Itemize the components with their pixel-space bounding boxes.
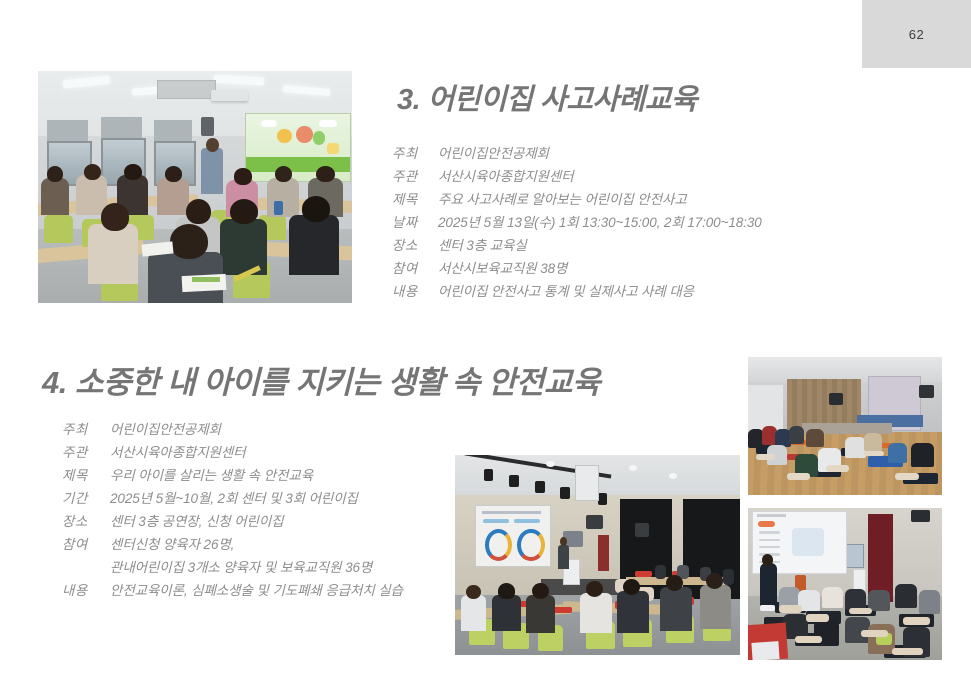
detail-value: 서산시육아종합지원센터 (430, 165, 574, 188)
detail-row: 제목 주요 사고사례로 알아보는 어린이집 안전사고 (392, 188, 762, 211)
detail-row: 내용 안전교육이론, 심폐소생술 및 기도폐쇄 응급처치 실습 (62, 579, 403, 602)
detail-value: 우리 아이를 살리는 생활 속 안전교육 (102, 464, 313, 487)
detail-value: 센터 3층 교육실 (430, 234, 527, 257)
photo-classroom-lecture (38, 71, 352, 303)
detail-value: 안전교육이론, 심폐소생술 및 기도폐쇄 응급처치 실습 (102, 579, 403, 602)
detail-value: 주요 사고사례로 알아보는 어린이집 안전사고 (430, 188, 687, 211)
photo-cpr-practice-hall (748, 508, 942, 660)
detail-label: 장소 (392, 234, 430, 257)
detail-row: 주최 어린이집안전공제회 (62, 418, 403, 441)
detail-row: 기간 2025년 5월~10월, 2회 센터 및 3회 어린이집 (62, 487, 403, 510)
detail-row-continuation: 관내어린이집 3개소 양육자 및 보육교직원 36명 (62, 556, 403, 579)
photo-cpr-practice-wood-floor (748, 357, 942, 495)
detail-row: 주관 서산시육아종합지원센터 (392, 165, 762, 188)
section-4-heading: 4. 소중한 내 아이를 지키는 생활 속 안전교육 (42, 357, 600, 402)
detail-row: 날짜 2025년 5월 13일(수) 1회 13:30~15:00, 2회 17… (392, 211, 762, 234)
detail-label: 주최 (62, 418, 102, 441)
detail-label: 주관 (392, 165, 430, 188)
photo-auditorium-cpr-lecture (455, 455, 740, 655)
section-4-details: 주최 어린이집안전공제회 주관 서산시육아종합지원센터 제목 우리 아이를 살리… (62, 418, 403, 602)
detail-value: 서산시보육교직원 38명 (430, 257, 567, 280)
section-3-heading: 3. 어린이집 사고사례교육 (397, 76, 697, 118)
detail-value: 어린이집 안전사고 통계 및 실제사고 사례 대응 (430, 280, 694, 303)
detail-label: 참여 (62, 533, 102, 556)
detail-label: 제목 (392, 188, 430, 211)
detail-value: 센터신청 양육자 26명, (102, 533, 234, 556)
page-number-badge: 62 (862, 0, 971, 68)
detail-value: 관내어린이집 3개소 양육자 및 보육교직원 36명 (102, 556, 372, 579)
detail-value: 센터 3층 공연장, 신청 어린이집 (102, 510, 284, 533)
page-number: 62 (909, 27, 924, 42)
detail-row: 주관 서산시육아종합지원센터 (62, 441, 403, 464)
detail-value: 어린이집안전공제회 (430, 142, 549, 165)
detail-label: 주관 (62, 441, 102, 464)
detail-row: 참여 센터신청 양육자 26명, (62, 533, 403, 556)
detail-value: 어린이집안전공제회 (102, 418, 221, 441)
detail-row: 장소 센터 3층 공연장, 신청 어린이집 (62, 510, 403, 533)
detail-label: 참여 (392, 257, 430, 280)
detail-label: 날짜 (392, 211, 430, 234)
detail-value: 서산시육아종합지원센터 (102, 441, 246, 464)
detail-label: 제목 (62, 464, 102, 487)
detail-row: 참여 서산시보육교직원 38명 (392, 257, 762, 280)
detail-row: 제목 우리 아이를 살리는 생활 속 안전교육 (62, 464, 403, 487)
detail-row: 내용 어린이집 안전사고 통계 및 실제사고 사례 대응 (392, 280, 762, 303)
detail-label: 장소 (62, 510, 102, 533)
detail-label: 내용 (392, 280, 430, 303)
section-3-details: 주최 어린이집안전공제회 주관 서산시육아종합지원센터 제목 주요 사고사례로 … (392, 142, 762, 303)
detail-row: 주최 어린이집안전공제회 (392, 142, 762, 165)
detail-value: 2025년 5월 13일(수) 1회 13:30~15:00, 2회 17:00… (430, 211, 762, 234)
detail-row: 장소 센터 3층 교육실 (392, 234, 762, 257)
detail-label: 기간 (62, 487, 102, 510)
detail-value: 2025년 5월~10월, 2회 센터 및 3회 어린이집 (102, 487, 358, 510)
detail-label: 주최 (392, 142, 430, 165)
detail-label: 내용 (62, 579, 102, 602)
